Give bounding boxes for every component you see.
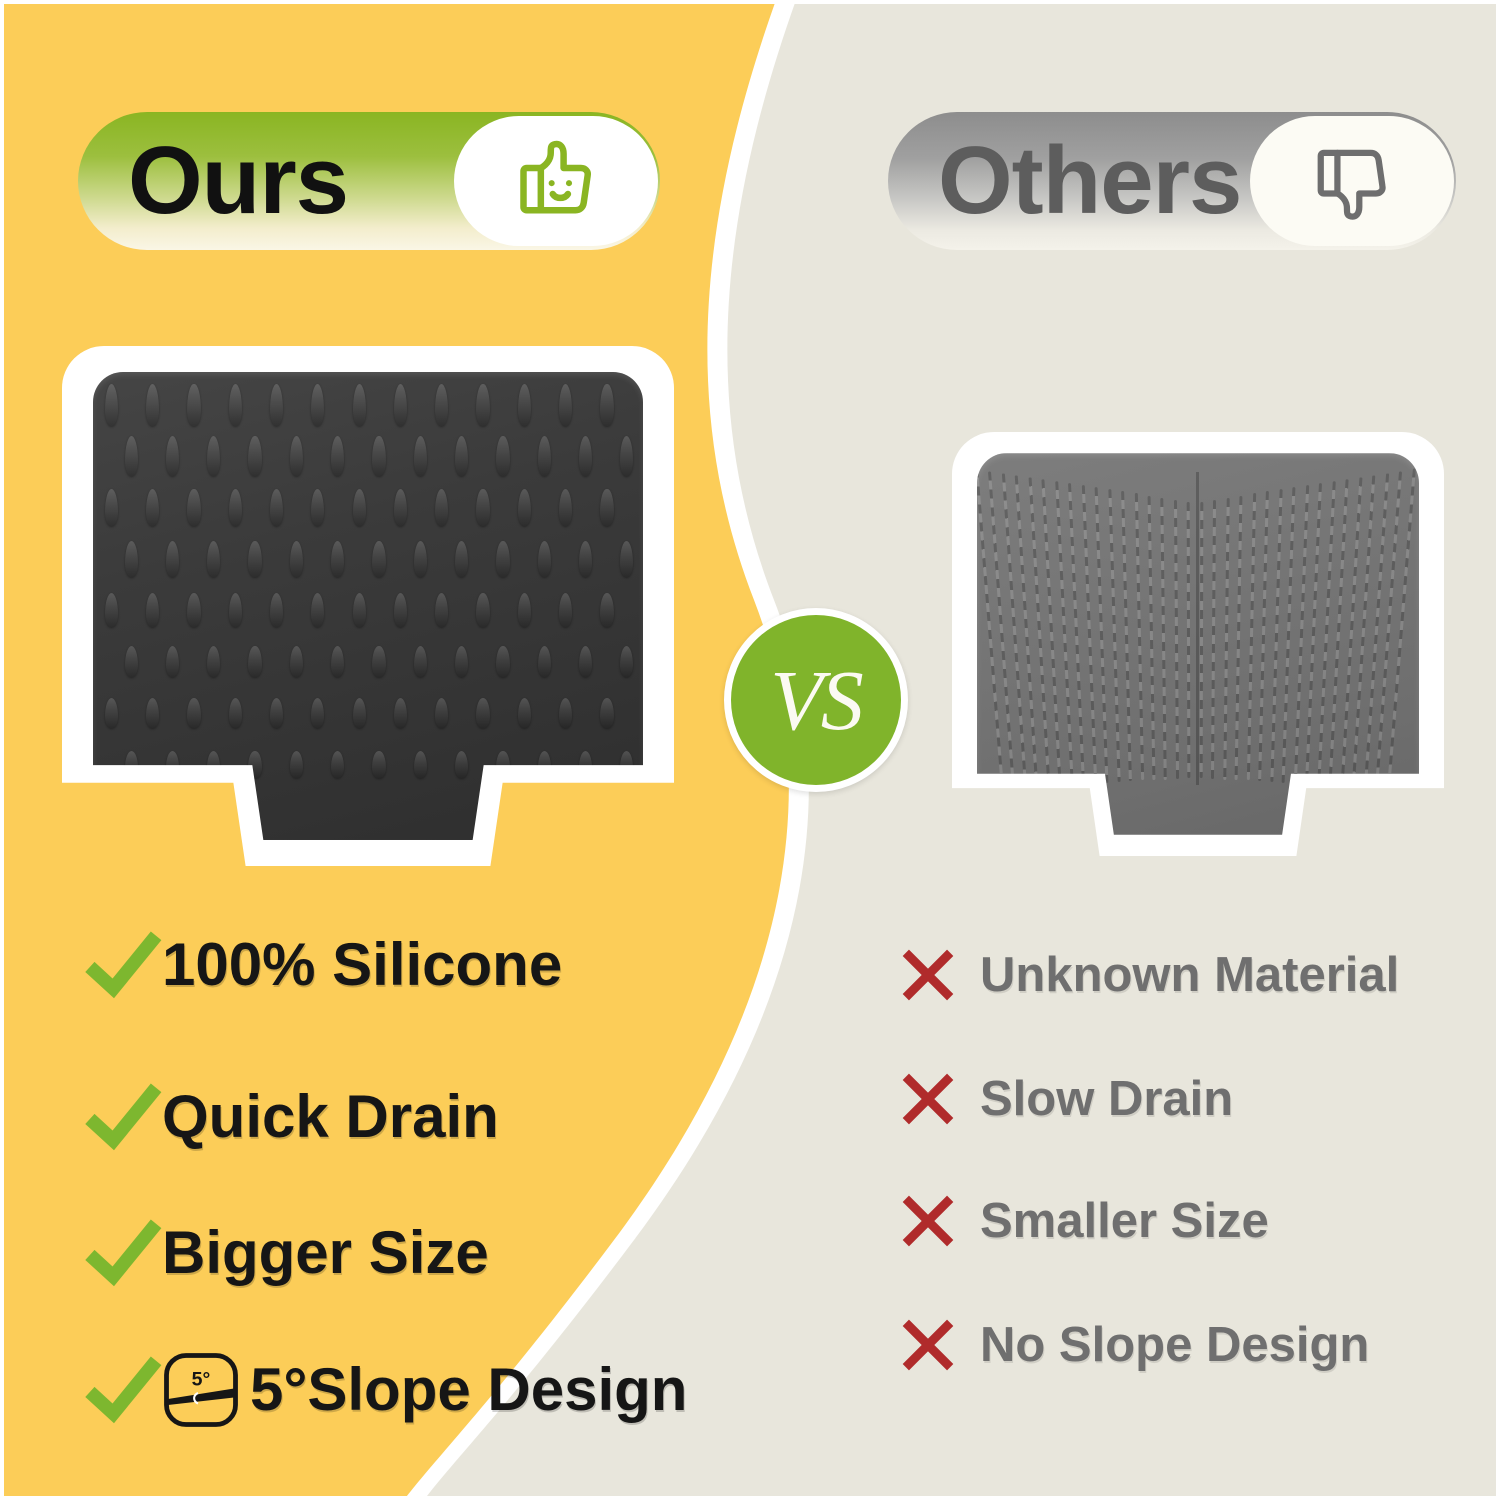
cross-icon <box>898 1070 958 1128</box>
mat-texture-drop <box>538 541 551 577</box>
mat-texture-drop <box>166 541 179 577</box>
mat-texture-drop <box>105 489 118 527</box>
mat-texture-drop <box>146 593 159 627</box>
mat-texture-drop <box>538 646 551 678</box>
mat-texture-drop <box>187 489 200 527</box>
mat-texture-drop <box>353 384 366 426</box>
slope-5-degree-icon: 5° <box>162 1352 240 1428</box>
mat-texture-drop <box>435 698 448 727</box>
mat-texture-wave <box>1235 495 1243 779</box>
feature-row: 100% Silicone <box>84 928 562 1002</box>
mat-texture-drop <box>414 436 427 476</box>
mat-texture-drop <box>270 593 283 627</box>
vs-label: VS <box>770 657 862 743</box>
mat-texture-drop <box>518 489 531 527</box>
mat-texture-drop <box>455 751 468 778</box>
mat-texture-drop <box>435 384 448 426</box>
mat-texture-drop <box>166 646 179 678</box>
mat-texture-drop <box>496 541 509 577</box>
others-badge-icon-pill <box>1250 116 1454 246</box>
mat-texture-wave <box>1223 498 1229 780</box>
feature-label: 5°Slope Design <box>250 1360 687 1420</box>
mat-texture-drop <box>518 593 531 627</box>
mat-texture-wave <box>1174 500 1179 779</box>
mat-texture-drop <box>353 489 366 527</box>
slope-value: 5° <box>192 1369 211 1391</box>
mat-texture-drop <box>229 384 242 426</box>
feature-label: Bigger Size <box>162 1223 489 1283</box>
mat-texture-drop <box>166 436 179 476</box>
mat-texture-drop <box>559 384 572 426</box>
others-badge-label: Others <box>938 133 1241 229</box>
mat-texture-drop <box>290 751 303 778</box>
feature-label: Slow Drain <box>980 1075 1233 1124</box>
mat-texture-drop <box>496 436 509 476</box>
mat-texture-drop <box>455 541 468 577</box>
mat-texture-drop <box>394 384 407 426</box>
feature-row: Unknown Material <box>898 946 1399 1004</box>
cross-icon <box>898 1192 958 1250</box>
others-product-image <box>952 432 1444 856</box>
mat-texture-drop <box>372 436 385 476</box>
mat-texture-drop <box>620 541 633 577</box>
mat-texture-drop <box>372 541 385 577</box>
mat-texture-drop <box>125 436 138 476</box>
cross-icon <box>898 946 958 1004</box>
mat-texture-drop <box>105 698 118 727</box>
mat-texture-drop <box>394 593 407 627</box>
mat-texture-wave <box>1161 498 1167 780</box>
mat-texture-drop <box>372 646 385 678</box>
mat-texture-wave <box>1001 473 1026 787</box>
mat-texture-drop <box>414 751 427 778</box>
mat-texture-drop <box>105 384 118 426</box>
mat-texture-wave <box>1352 475 1376 787</box>
ours-product-image <box>62 346 674 866</box>
thumbs-up-smiley-icon <box>504 129 608 233</box>
mat-texture-drop <box>270 489 283 527</box>
feature-row: Bigger Size <box>84 1216 489 1290</box>
mat-texture-drop <box>600 384 613 426</box>
mat-texture-wave <box>1270 489 1282 782</box>
feature-row: Slow Drain <box>898 1070 1233 1128</box>
mat-texture-drop <box>290 541 303 577</box>
mat-texture-wave <box>1364 473 1389 787</box>
mat-texture-drop <box>290 646 303 678</box>
others-badge: Others <box>888 112 1456 250</box>
mat-texture-drop <box>311 384 324 426</box>
mat-texture-drop <box>518 698 531 727</box>
feature-row: 5° 5°Slope Design <box>84 1352 687 1428</box>
mat-texture-drop <box>353 698 366 727</box>
mat-texture-wave <box>1108 489 1120 782</box>
mat-texture-drop <box>620 436 633 476</box>
mat-texture-drop <box>476 489 489 527</box>
mat-texture-drop <box>290 436 303 476</box>
mat-texture-drop <box>105 593 118 627</box>
mat-texture-drop <box>353 593 366 627</box>
mat-texture-drop <box>394 698 407 727</box>
check-icon <box>84 1216 162 1290</box>
mat-texture-drop <box>311 698 324 727</box>
feature-row: Smaller Size <box>898 1192 1269 1250</box>
mat-texture-drop <box>600 489 613 527</box>
mat-texture-drop <box>270 384 283 426</box>
mat-texture-drop <box>600 593 613 627</box>
mat-texture-drop <box>187 698 200 727</box>
mat-texture-drop <box>331 646 344 678</box>
mat-texture-drop <box>455 436 468 476</box>
mat-texture-drop <box>229 489 242 527</box>
mat-texture-drop <box>559 489 572 527</box>
comparison-infographic: Ours Others <box>0 0 1500 1500</box>
feature-label: Quick Drain <box>162 1087 499 1147</box>
mat-texture-drop <box>538 436 551 476</box>
mat-texture-drop <box>579 541 592 577</box>
mat-texture-wave <box>1282 487 1296 782</box>
mat-texture-drop <box>331 541 344 577</box>
mat-texture-drop <box>229 593 242 627</box>
mat-texture-drop <box>579 436 592 476</box>
feature-label: 100% Silicone <box>162 935 562 995</box>
mat-texture-drop <box>394 489 407 527</box>
mat-texture-wave <box>1258 491 1269 781</box>
ours-badge-icon-pill <box>454 116 658 246</box>
mat-texture-drop <box>435 593 448 627</box>
mat-texture-drop <box>207 646 220 678</box>
mat-texture-wave <box>1387 469 1416 789</box>
mat-texture-drop <box>372 751 385 778</box>
check-icon <box>84 1080 162 1154</box>
mat-texture-drop <box>311 593 324 627</box>
mat-texture-drop <box>146 384 159 426</box>
mat-texture-drop <box>600 698 613 727</box>
mat-texture-drop <box>620 646 633 678</box>
mat-texture-wave <box>1187 502 1191 778</box>
mat-texture-wave <box>1375 471 1402 788</box>
mat-center-spine <box>1196 472 1199 785</box>
mat-texture-wave <box>1095 487 1109 782</box>
mat-texture-drop <box>496 646 509 678</box>
mat-texture-wave <box>1015 475 1039 787</box>
mat-texture-wave <box>1200 502 1204 778</box>
mat-texture-wave <box>1211 500 1216 779</box>
mat-texture-drop <box>414 646 427 678</box>
mat-texture-wave <box>1081 485 1096 783</box>
feature-label: Smaller Size <box>980 1197 1269 1246</box>
mat-texture-drop <box>476 698 489 727</box>
mat-texture-wave <box>1134 493 1143 780</box>
thumbs-down-icon <box>1302 131 1402 231</box>
mat-texture-drop <box>146 489 159 527</box>
mat-texture-drop <box>125 646 138 678</box>
feature-label: No Slope Design <box>980 1321 1369 1370</box>
mat-texture-drop <box>125 541 138 577</box>
mat-texture-drop <box>270 698 283 727</box>
mat-texture-drop <box>559 698 572 727</box>
mat-texture-drop <box>455 646 468 678</box>
mat-texture-drop <box>311 489 324 527</box>
ours-badge: Ours <box>78 112 660 250</box>
mat-texture-drop <box>518 384 531 426</box>
check-icon <box>84 928 162 1002</box>
mat-texture-drop <box>146 698 159 727</box>
mat-texture-wave <box>1247 493 1256 780</box>
mat-texture-drop <box>331 751 344 778</box>
mat-texture-wave <box>1148 495 1156 779</box>
mat-texture-drop <box>187 384 200 426</box>
feature-row: No Slope Design <box>898 1316 1369 1374</box>
mat-texture-drop <box>248 436 261 476</box>
mat-texture-drop <box>476 593 489 627</box>
mat-texture-drop <box>229 698 242 727</box>
feature-label: Unknown Material <box>980 951 1399 1000</box>
vs-badge: VS <box>724 608 908 792</box>
mat-texture-wave <box>988 471 1015 788</box>
mat-texture-drop <box>248 646 261 678</box>
cross-icon <box>898 1316 958 1374</box>
mat-texture-drop <box>579 646 592 678</box>
mat-texture-drop <box>248 541 261 577</box>
mat-texture-drop <box>207 436 220 476</box>
mat-texture-drop <box>331 436 344 476</box>
mat-texture-wave <box>1121 491 1132 781</box>
check-icon <box>84 1353 162 1427</box>
feature-row: Quick Drain <box>84 1080 499 1154</box>
mat-texture-drop <box>187 593 200 627</box>
mat-texture-drop <box>559 593 572 627</box>
mat-texture-drop <box>435 489 448 527</box>
mat-texture-drop <box>476 384 489 426</box>
mat-texture-drop <box>414 541 427 577</box>
mat-texture-drop <box>207 541 220 577</box>
ours-badge-label: Ours <box>128 133 348 229</box>
